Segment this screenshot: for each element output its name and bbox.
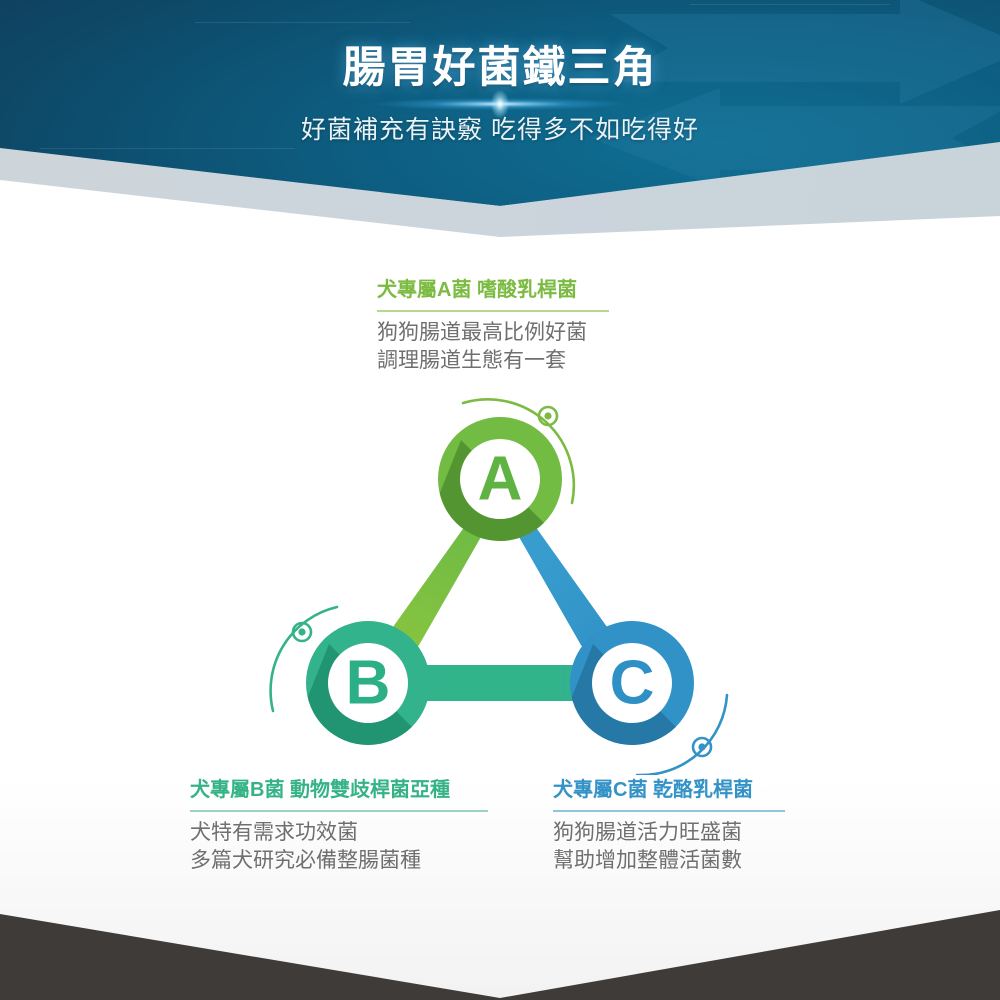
block-c-line-1: 狗狗腸道活力旺盛菌: [553, 819, 785, 847]
footer-band: [0, 900, 1000, 1000]
block-c-title: 犬專屬C菌 乾酪乳桿菌: [553, 778, 785, 803]
node-b: B: [283, 621, 433, 759]
page-subtitle: 好菌補充有訣竅 吃得多不如吃得好: [0, 110, 1000, 146]
block-a-divider: [377, 310, 609, 312]
node-b-letter: B: [346, 649, 391, 718]
node-c-letter: C: [610, 649, 655, 718]
block-b-line-2: 多篇犬研究必備整腸菌種: [190, 847, 488, 875]
bacteria-block-c: 犬專屬C菌 乾酪乳桿菌 狗狗腸道活力旺盛菌 幫助增加整體活菌數: [553, 778, 785, 874]
block-a-title: 犬專屬A菌 嗜酸乳桿菌: [377, 278, 609, 303]
block-b-divider: [190, 810, 488, 812]
block-b-line-1: 犬特有需求功效菌: [190, 819, 488, 847]
block-a-line-1: 狗狗腸道最高比例好菌: [377, 319, 609, 347]
decorative-line: [690, 4, 890, 5]
decorative-line: [40, 148, 295, 149]
block-c-divider: [553, 810, 785, 812]
infographic-page: 腸胃好菌鐵三角 好菌補充有訣竅 吃得多不如吃得好 犬專屬A菌 嗜酸乳桿菌 狗狗腸…: [0, 0, 1000, 1000]
decorative-line: [195, 22, 410, 23]
block-a-line-2: 調理腸道生態有一套: [377, 347, 609, 375]
block-c-line-2: 幫助增加整體活菌數: [553, 847, 785, 875]
triangle-diagram: A B C: [265, 395, 735, 775]
bacteria-block-b: 犬專屬B菌 動物雙歧桿菌亞種 犬特有需求功效菌 多篇犬研究必備整腸菌種: [190, 778, 488, 874]
bacteria-block-a: 犬專屬A菌 嗜酸乳桿菌 狗狗腸道最高比例好菌 調理腸道生態有一套: [377, 278, 609, 374]
node-a-letter: A: [478, 445, 523, 514]
node-a: A: [415, 417, 565, 555]
block-b-title: 犬專屬B菌 動物雙歧桿菌亞種: [190, 778, 488, 803]
